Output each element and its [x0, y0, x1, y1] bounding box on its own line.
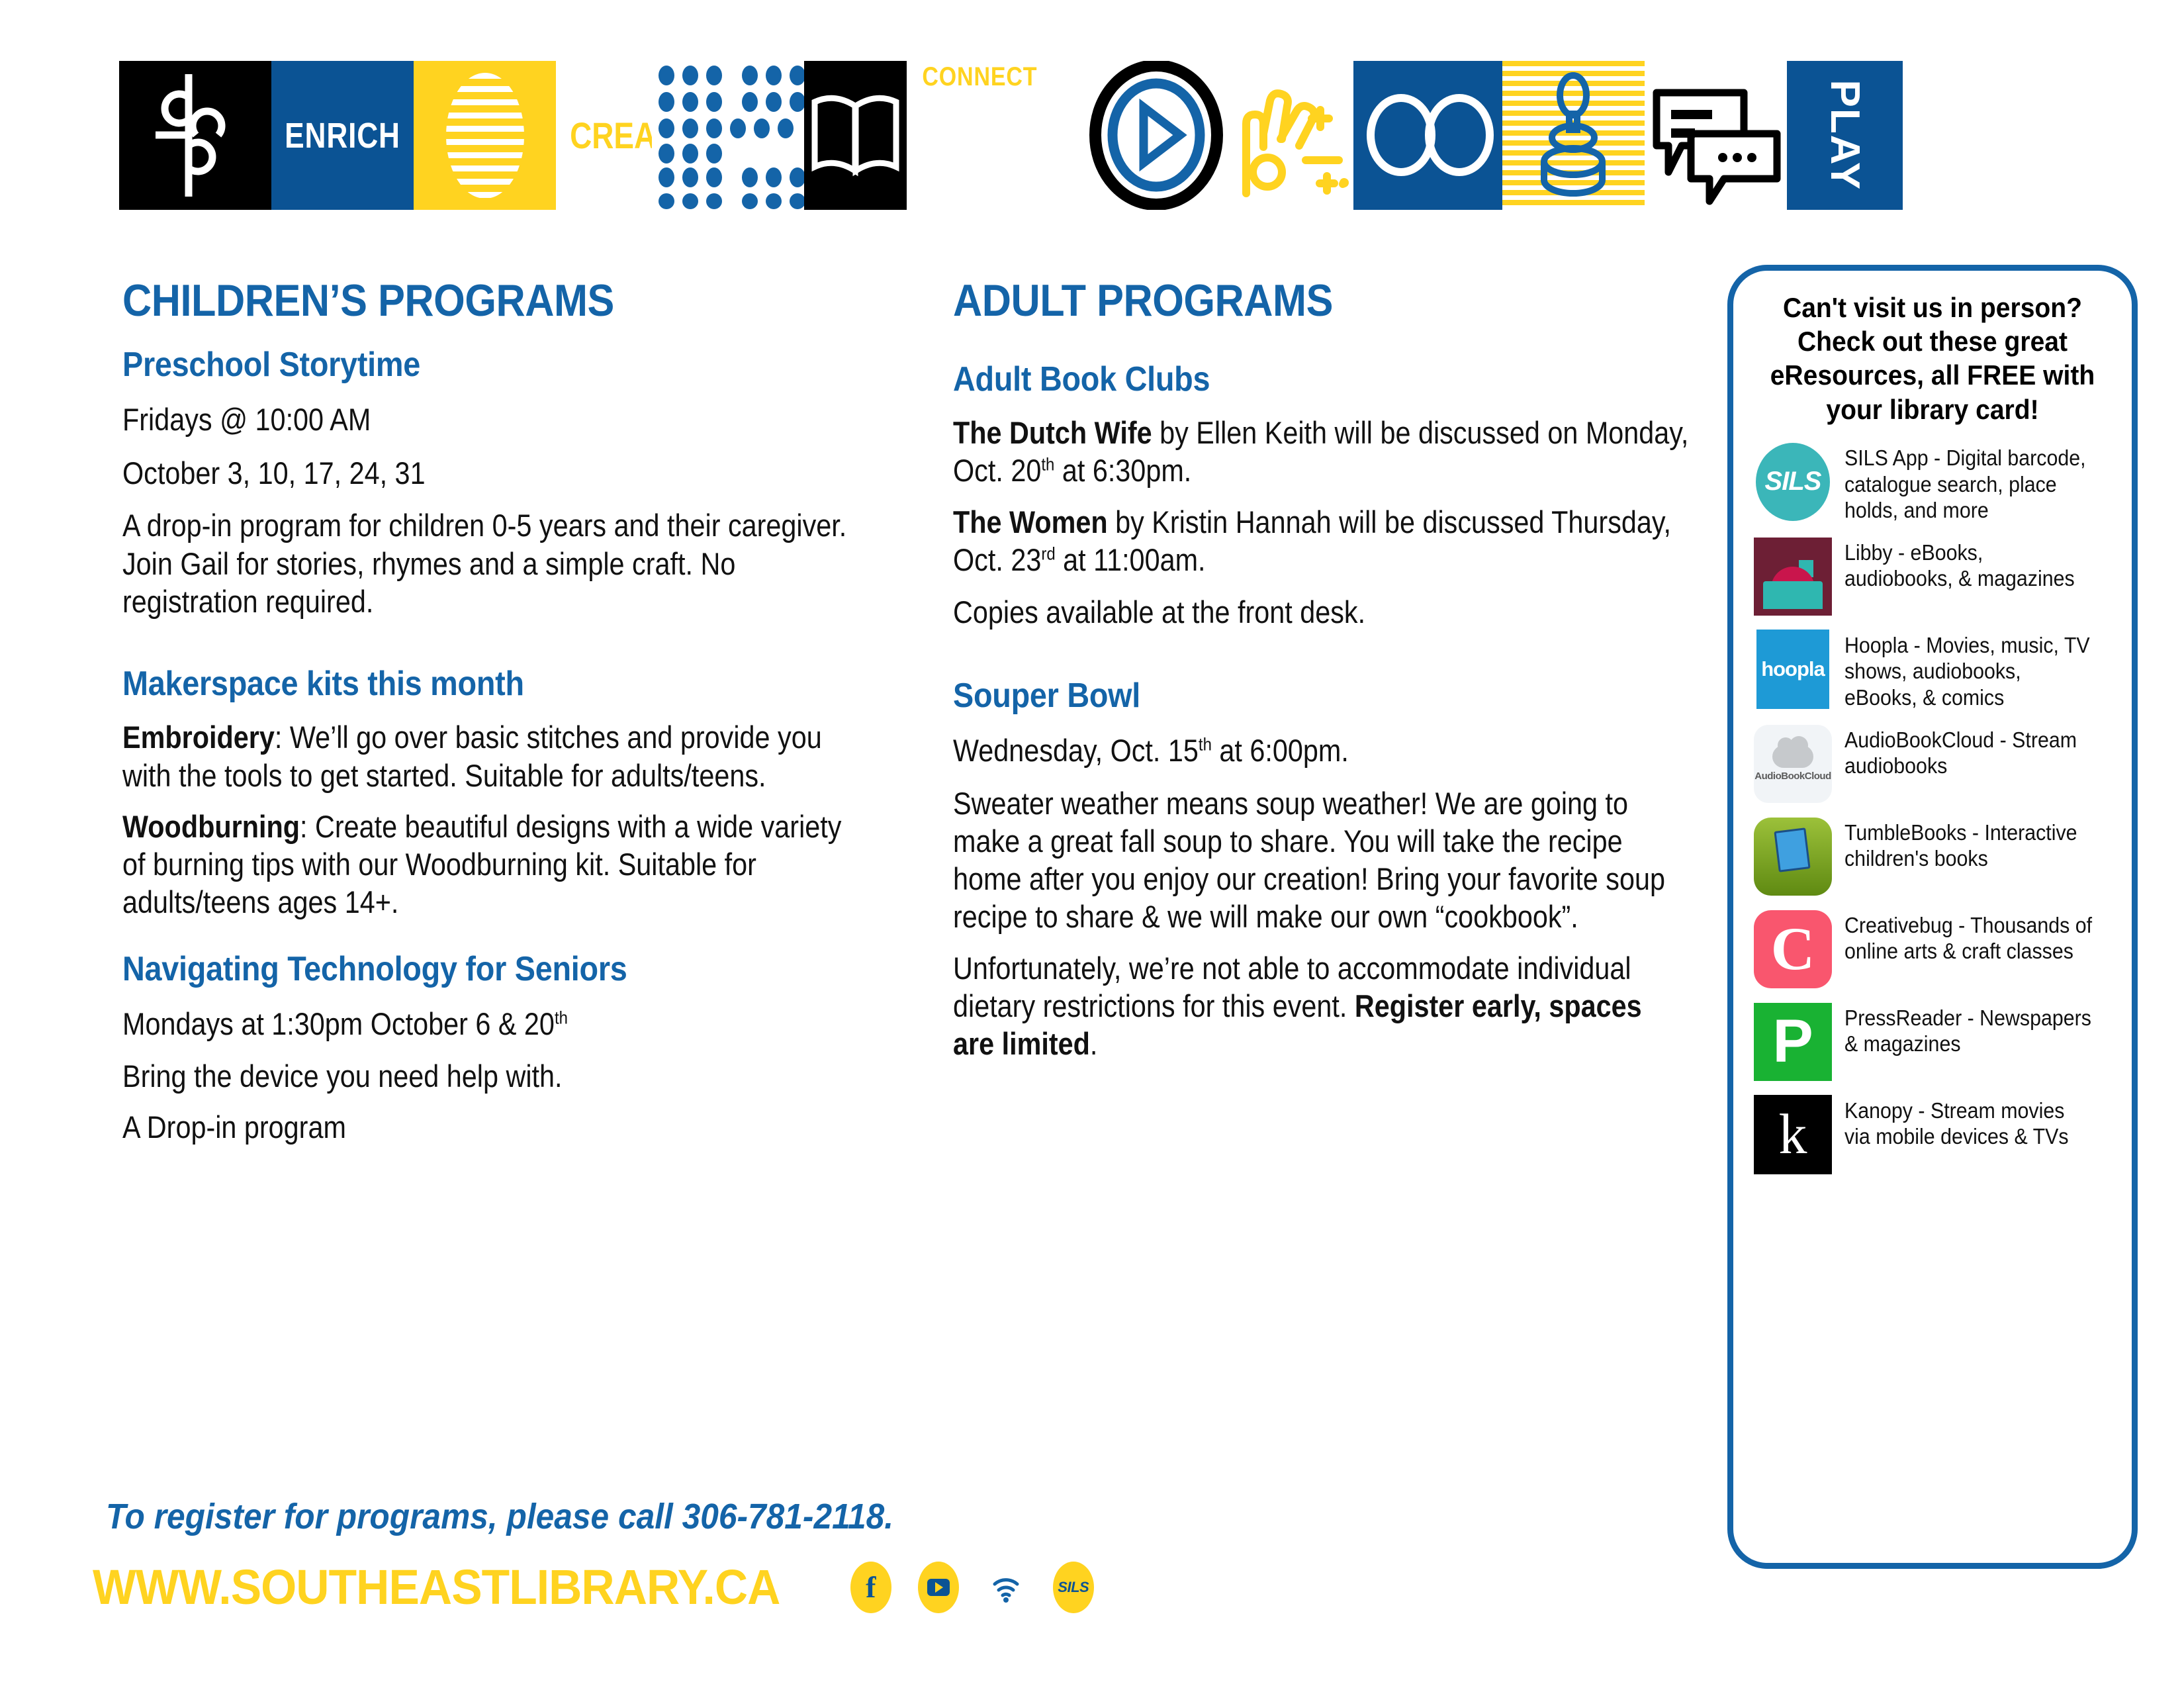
book-club-the-women: The Women by Kristin Hannah will be disc…: [953, 503, 1690, 579]
book-club-dutch-wife: The Dutch Wife by Ellen Keith will be di…: [953, 414, 1690, 490]
eresources-list: SILS SILS App - Digital barcode, catalog…: [1749, 442, 2116, 1174]
open-book-icon: [804, 61, 907, 210]
glasses-icon: [1353, 61, 1502, 210]
seniors-bring-device: Bring the device you need help with.: [122, 1057, 860, 1095]
sun-icon: [414, 61, 556, 210]
woodburning-label: Woodburning: [122, 809, 300, 844]
list-item[interactable]: SILS SILS App - Digital barcode, catalog…: [1753, 442, 2116, 524]
the-women-ordinal: rd: [1041, 543, 1055, 563]
footer-row: WWW.SOUTHEASTLIBRARY.CA f SILS: [93, 1559, 1094, 1615]
list-item[interactable]: AudioBookCloud AudioBookCloud - Stream a…: [1753, 724, 2116, 804]
storytime-schedule-day: Fridays @ 10:00 AM: [122, 399, 860, 440]
eresource-description: AudioBookCloud - Stream audiobooks: [1844, 724, 2094, 779]
list-item[interactable]: TumbleBooks - Interactive children's boo…: [1753, 817, 2116, 896]
embroidery-label: Embroidery: [122, 720, 275, 755]
souper-bowl-heading: Souper Bowl: [953, 676, 1620, 716]
adult-programs-column: ADULT PROGRAMS Adult Book Clubs The Dutc…: [953, 275, 1694, 1076]
eresource-description: Creativebug - Thousands of online arts &…: [1844, 910, 2094, 964]
libby-icon: [1753, 537, 1833, 616]
wifi-icon[interactable]: [985, 1562, 1026, 1613]
dots-pattern-icon: [652, 61, 804, 210]
list-item[interactable]: P PressReader - Newspapers & magazines: [1753, 1002, 2116, 1082]
childrens-programs-title: CHILDREN’S PROGRAMS: [122, 275, 790, 326]
abc-icon-text: AudioBookCloud: [1754, 771, 1831, 782]
audiobookcloud-icon: AudioBookCloud: [1753, 724, 1833, 804]
website-url[interactable]: WWW.SOUTHEASTLIBRARY.CA: [93, 1559, 780, 1615]
enrich-label: ENRICH: [285, 115, 400, 156]
creativebug-icon: C: [1753, 910, 1833, 989]
pressreader-icon: P: [1753, 1002, 1833, 1082]
puzzle-icon: [119, 61, 271, 210]
facebook-glyph: f: [866, 1570, 876, 1605]
kanopy-icon-text: k: [1754, 1095, 1832, 1174]
list-item[interactable]: hoopla Hoopla - Movies, music, TV shows,…: [1753, 630, 2116, 711]
adult-programs-title: ADULT PROGRAMS: [953, 275, 1620, 326]
the-women-title: The Women: [953, 504, 1108, 539]
eresource-description: TumbleBooks - Interactive children's boo…: [1844, 817, 2094, 872]
dutch-wife-time: at 6:30pm.: [1054, 453, 1191, 488]
seniors-schedule-text: Mondays at 1:30pm October 6 & 20: [122, 1006, 555, 1041]
seniors-schedule: Mondays at 1:30pm October 6 & 20th: [122, 1004, 860, 1044]
list-item[interactable]: Libby - eBooks, audiobooks, & magazines: [1753, 537, 2116, 616]
ring-stacker-icon: [1502, 61, 1645, 210]
souper-bowl-description: Sweater weather means soup weather! We a…: [953, 784, 1690, 936]
seniors-dropin: A Drop-in program: [122, 1108, 860, 1146]
banner-play-block: PLAY: [1787, 61, 1903, 210]
creativebug-icon-text: C: [1754, 910, 1832, 988]
childrens-programs-column: CHILDREN’S PROGRAMS Preschool Storytime …: [122, 275, 864, 1160]
register-call-text: To register for programs, please call 30…: [106, 1496, 893, 1537]
sils-glyph: SILS: [1058, 1579, 1089, 1596]
dutch-wife-title: The Dutch Wife: [953, 415, 1152, 450]
adult-book-clubs-heading: Adult Book Clubs: [953, 359, 1620, 399]
eresource-description: Kanopy - Stream movies via mobile device…: [1844, 1095, 2094, 1150]
sils-icon-text: SILS: [1756, 443, 1830, 521]
facebook-icon[interactable]: f: [850, 1562, 891, 1613]
pressreader-icon-text: P: [1754, 1003, 1832, 1081]
play-button-icon: [1085, 61, 1228, 210]
banner-enrich-block: ENRICH: [271, 61, 414, 210]
makerspace-heading: Makerspace kits this month: [122, 664, 790, 704]
souper-bowl-date: Wednesday, Oct. 15th at 6:00pm.: [953, 730, 1690, 771]
hand-sparkle-icon: [1228, 61, 1353, 210]
sils-app-icon: SILS: [1753, 442, 1833, 522]
hoopla-icon: hoopla: [1753, 630, 1833, 709]
chat-bubbles-icon: [1645, 61, 1787, 210]
copies-available-note: Copies available at the front desk.: [953, 592, 1690, 632]
header-banner: ENRICH CREATIVE: [119, 61, 2078, 210]
storytime-description: A drop-in program for children 0-5 years…: [122, 506, 860, 620]
creative-label: CREATIVE: [570, 114, 652, 157]
eresource-description: SILS App - Digital barcode, catalogue se…: [1844, 442, 2094, 524]
makerspace-woodburning: Woodburning: Create beautiful designs wi…: [122, 808, 860, 921]
eresource-description: PressReader - Newspapers & magazines: [1844, 1002, 2094, 1057]
banner-connect-block: CONNECT: [907, 61, 1085, 210]
tumblebooks-icon: [1753, 817, 1833, 896]
seniors-tech-heading: Navigating Technology for Seniors: [122, 949, 790, 989]
souper-date-text: Wednesday, Oct. 15: [953, 733, 1199, 768]
banner-creative-block: CREATIVE: [556, 61, 652, 210]
list-item[interactable]: C Creativebug - Thousands of online arts…: [1753, 910, 2116, 989]
seniors-schedule-ordinal: th: [555, 1007, 568, 1027]
sils-icon[interactable]: SILS: [1053, 1562, 1094, 1613]
flyer-page: ENRICH CREATIVE: [0, 0, 2184, 1688]
eresource-description: Libby - eBooks, audiobooks, & magazines: [1844, 537, 2094, 592]
eresources-heading: Can't visit us in person? Check out thes…: [1762, 291, 2103, 426]
the-women-time: at 11:00am.: [1056, 542, 1206, 577]
eresources-sidebar: Can't visit us in person? Check out thes…: [1727, 265, 2138, 1569]
connect-label: CONNECT: [922, 62, 1037, 92]
storytime-schedule-dates: October 3, 10, 17, 24, 31: [122, 453, 860, 493]
youtube-icon[interactable]: [918, 1562, 959, 1613]
preschool-storytime-heading: Preschool Storytime: [122, 345, 790, 385]
souper-date-time: at 6:00pm.: [1212, 733, 1349, 768]
souper-bowl-dietary-note: Unfortunately, we’re not able to accommo…: [953, 949, 1690, 1063]
kanopy-icon: k: [1753, 1095, 1833, 1174]
dietary-note-period: .: [1090, 1026, 1097, 1061]
souper-date-ordinal: th: [1199, 734, 1212, 755]
eresource-description: Hoopla - Movies, music, TV shows, audiob…: [1844, 630, 2094, 711]
makerspace-embroidery: Embroidery: We’ll go over basic stitches…: [122, 718, 860, 794]
hoopla-icon-text: hoopla: [1756, 630, 1829, 709]
dutch-wife-ordinal: th: [1041, 454, 1054, 475]
list-item[interactable]: k Kanopy - Stream movies via mobile devi…: [1753, 1095, 2116, 1174]
play-label: PLAY: [1821, 61, 1868, 210]
